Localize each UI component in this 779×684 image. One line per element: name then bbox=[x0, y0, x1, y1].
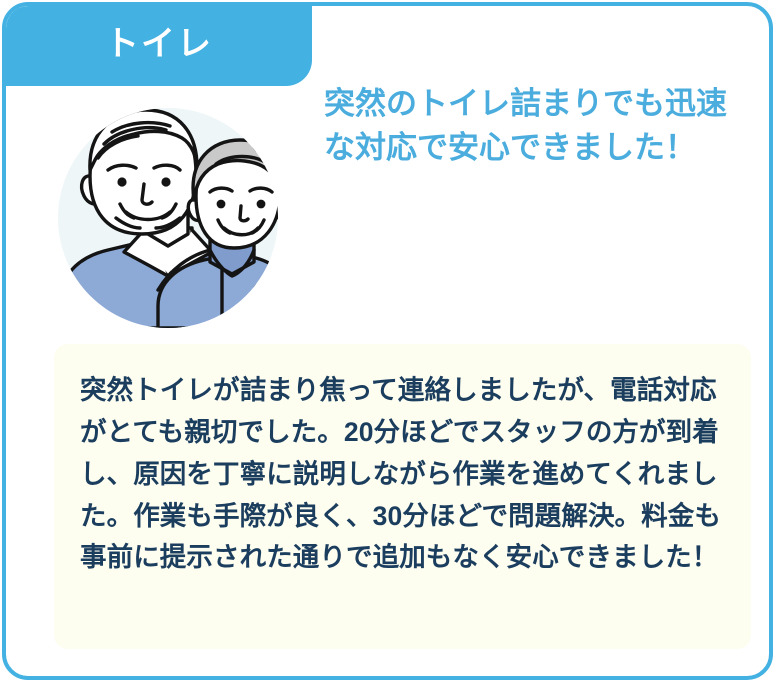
hero-section: 突然のトイレ詰まりでも迅速な対応で安心できました！ bbox=[6, 86, 773, 336]
elderly-couple-illustration bbox=[46, 100, 290, 328]
page-title: 突然のトイレ詰まりでも迅速な対応で安心できました！ bbox=[324, 82, 756, 170]
category-tab-label: トイレ bbox=[105, 27, 213, 65]
testimonial-body-text: 突然トイレが詰まり焦って連絡しましたが、電話対応がとても親切でした。20分ほどで… bbox=[80, 370, 721, 579]
testimonial-card: トイレ bbox=[2, 2, 773, 680]
testimonial-quote-box: 突然トイレが詰まり焦って連絡しましたが、電話対応がとても親切でした。20分ほどで… bbox=[54, 344, 751, 649]
category-tab: トイレ bbox=[6, 6, 312, 86]
